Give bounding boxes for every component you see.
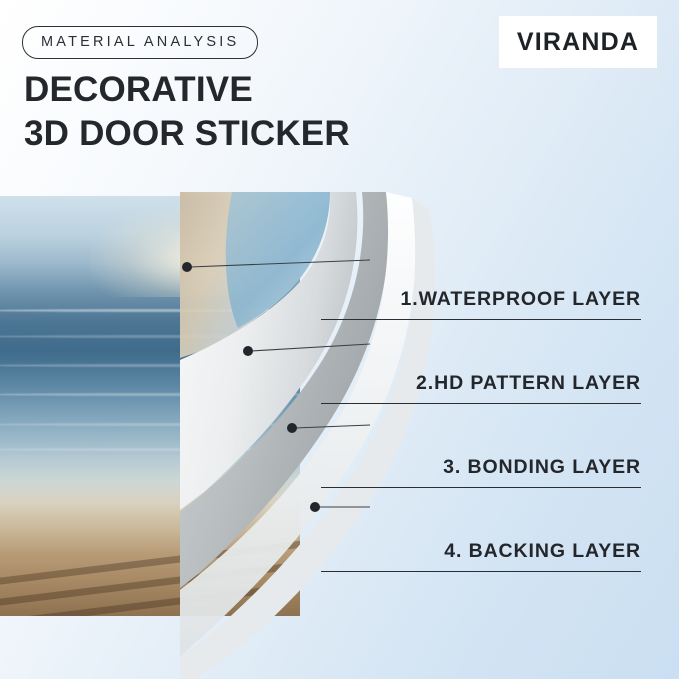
eyebrow-badge: MATERIAL ANALYSIS	[22, 26, 258, 59]
brand-name: VIRANDA	[517, 28, 639, 57]
layer-label-3: 3. BONDING LAYER	[321, 404, 641, 488]
layer-label-1-text: 1.WATERPROOF LAYER	[401, 288, 641, 311]
poster-canvas: MATERIAL ANALYSIS DECORATIVE3D DOOR STIC…	[0, 0, 679, 679]
layer-label-4-text: 4. BACKING LAYER	[444, 540, 641, 563]
page-title-line2: 3D DOOR STICKER	[24, 114, 350, 153]
layer-label-list: 1.WATERPROOF LAYER 2.HD PATTERN LAYER 3.…	[321, 236, 641, 572]
layer-label-2-text: 2.HD PATTERN LAYER	[416, 372, 641, 395]
layer-label-3-text: 3. BONDING LAYER	[443, 456, 641, 479]
layer-label-1: 1.WATERPROOF LAYER	[321, 236, 641, 320]
page-title-line1: DECORATIVE	[24, 70, 253, 109]
page-title: DECORATIVE3D DOOR STICKER	[24, 68, 350, 156]
layer-label-4-rule	[321, 571, 641, 572]
layer-label-4: 4. BACKING LAYER	[321, 488, 641, 572]
layer-label-2: 2.HD PATTERN LAYER	[321, 320, 641, 404]
brand-logo-panel: VIRANDA	[499, 16, 657, 68]
